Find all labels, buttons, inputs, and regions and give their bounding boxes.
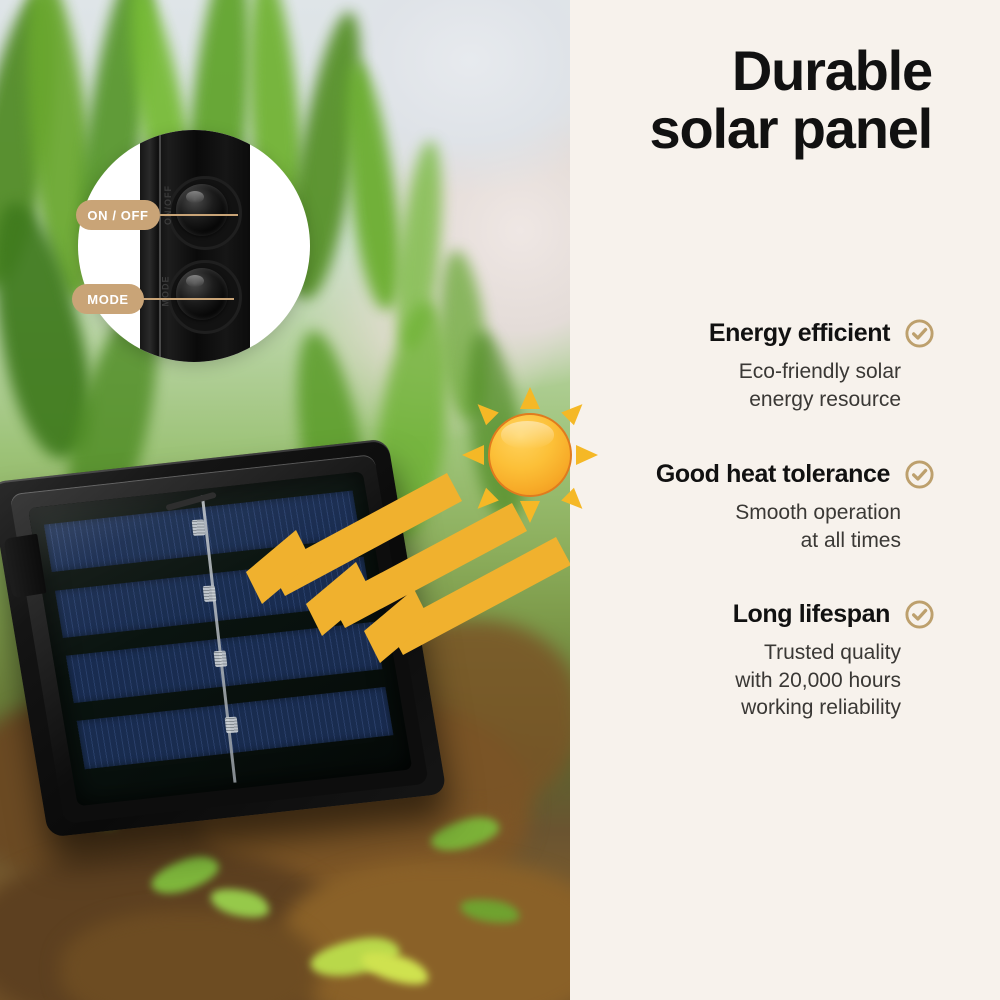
feature-heading-row: Long lifespan	[595, 599, 935, 630]
feature-description-line: Eco-friendly solar	[595, 358, 901, 386]
button-callout-circle: ON/OFF MODE	[78, 130, 310, 362]
feature-description: Trusted quality with 20,000 hours workin…	[595, 639, 935, 722]
feature-title: Good heat tolerance	[656, 460, 890, 489]
product-feature-poster: ON/OFF MODE ON / OFF MODE Durable solar …	[0, 0, 1000, 1000]
feature-description-line: energy resource	[595, 386, 901, 414]
feature-description-line: working reliability	[595, 694, 901, 722]
check-circle-icon	[904, 318, 935, 349]
title-line-2: solar panel	[602, 100, 932, 158]
mode-button-embossed-label: MODE	[161, 276, 171, 307]
sun-ray	[576, 445, 598, 465]
feature-item: Long lifespan Trusted quality with 20,00…	[595, 599, 935, 722]
device-edge: ON/OFF MODE	[140, 130, 250, 362]
callout-label-power: ON / OFF	[76, 200, 160, 230]
power-button[interactable]	[176, 184, 228, 236]
feature-description: Smooth operation at all times	[595, 499, 935, 554]
feature-item: Energy efficient Eco-friendly solar ener…	[595, 318, 935, 413]
feature-description-line: at all times	[595, 527, 901, 555]
feature-description: Eco-friendly solar energy resource	[595, 358, 935, 413]
page-title: Durable solar panel	[602, 42, 932, 157]
sun-ray	[520, 501, 540, 523]
mode-button[interactable]	[176, 268, 228, 320]
sun-ray	[462, 445, 484, 465]
callout-leader-line-power	[160, 214, 238, 216]
title-line-1: Durable	[602, 42, 932, 100]
sun-disc	[488, 413, 572, 497]
feature-heading-row: Energy efficient	[595, 318, 935, 349]
feature-title: Long lifespan	[733, 600, 890, 629]
check-circle-icon	[904, 459, 935, 490]
feature-description-line: Trusted quality	[595, 639, 901, 667]
feature-heading-row: Good heat tolerance	[595, 459, 935, 490]
feature-title: Energy efficient	[709, 319, 890, 348]
info-panel: Durable solar panel Energy efficient Eco…	[570, 0, 1000, 1000]
sun-icon	[488, 413, 572, 497]
feature-item: Good heat tolerance Smooth operation at …	[595, 459, 935, 554]
feature-list: Energy efficient Eco-friendly solar ener…	[595, 318, 935, 722]
callout-label-mode: MODE	[72, 284, 144, 314]
sun-ray	[520, 387, 540, 409]
power-button-embossed-label: ON/OFF	[163, 185, 173, 225]
check-circle-icon	[904, 599, 935, 630]
feature-description-line: with 20,000 hours	[595, 667, 901, 695]
callout-leader-line-mode	[142, 298, 234, 300]
feature-description-line: Smooth operation	[595, 499, 901, 527]
